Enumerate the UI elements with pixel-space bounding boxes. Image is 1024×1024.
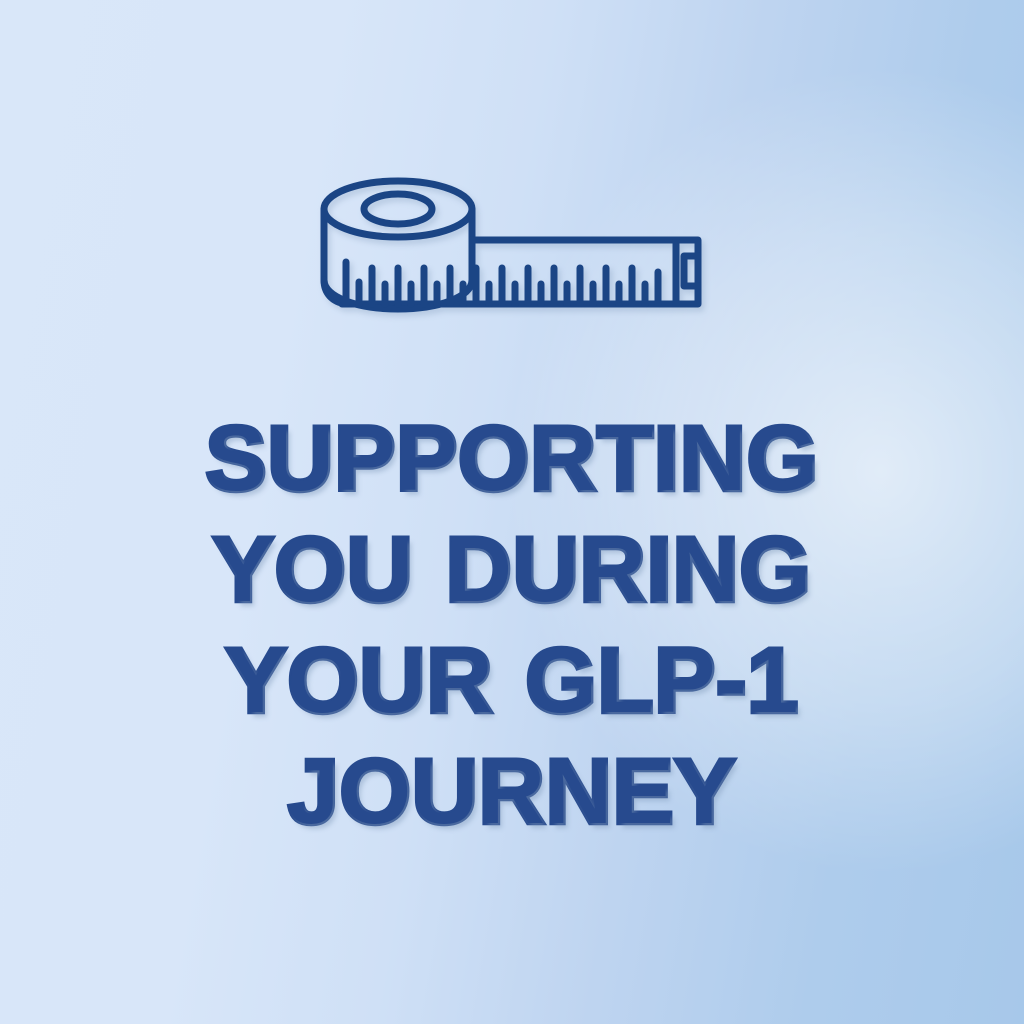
tape-roll-outer-ellipse xyxy=(324,181,472,237)
headline-line-2: YOU DURING xyxy=(40,515,984,626)
page-title: SUPPORTING YOU DURING YOUR GLP-1 JOURNEY xyxy=(0,404,1024,848)
tape-tick-marks xyxy=(346,262,658,304)
measuring-tape-icon-container xyxy=(0,172,1024,322)
headline-line-1: SUPPORTING xyxy=(40,404,984,515)
headline-line-4: JOURNEY xyxy=(40,737,984,848)
poster-canvas: SUPPORTING YOU DURING YOUR GLP-1 JOURNEY xyxy=(0,0,1024,1024)
measuring-tape-icon xyxy=(302,172,722,322)
tape-roll-inner-hole xyxy=(364,194,432,224)
headline-line-3: YOUR GLP-1 xyxy=(40,626,984,737)
